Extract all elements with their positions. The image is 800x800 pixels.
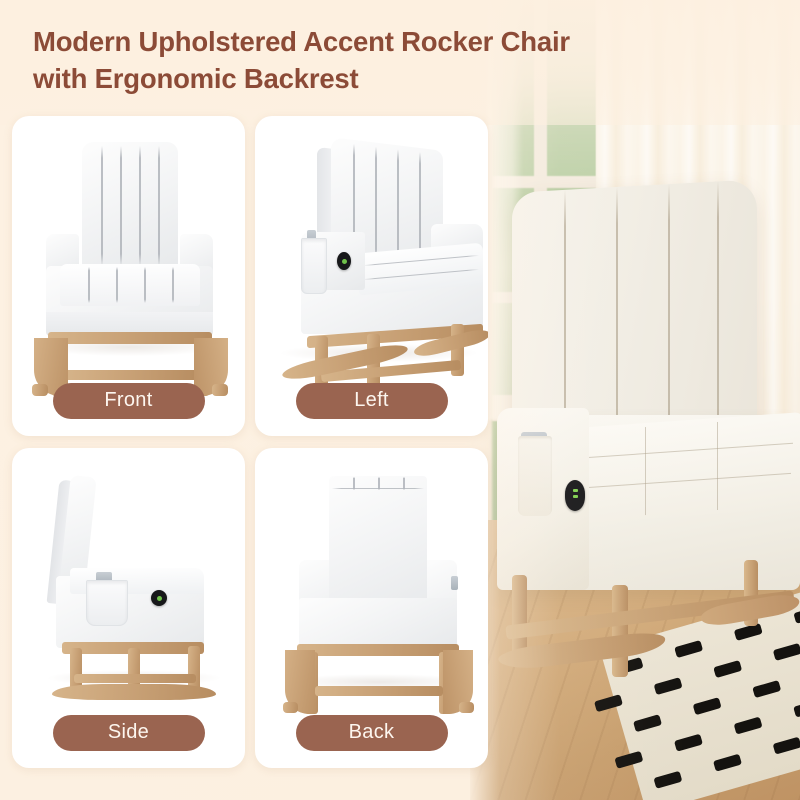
side-usb-charging-port bbox=[151, 590, 167, 606]
back-view-illustration bbox=[255, 448, 488, 706]
front-runner-foot-right bbox=[212, 384, 228, 396]
back-stretcher bbox=[315, 686, 443, 696]
view-card-back[interactable]: Back bbox=[255, 448, 488, 768]
side-storage-pocket bbox=[86, 580, 128, 626]
front-seat-cushion bbox=[60, 264, 200, 306]
photo-leg-front-left bbox=[512, 575, 527, 655]
back-base-rail bbox=[297, 644, 459, 656]
view-card-front[interactable]: Front bbox=[12, 116, 245, 436]
back-runner-foot-left bbox=[283, 702, 298, 713]
view-label-front: Front bbox=[53, 383, 205, 419]
view-label-back: Back bbox=[296, 715, 448, 751]
left-side-pocket bbox=[301, 238, 327, 294]
back-pocket-contents bbox=[451, 576, 458, 590]
side-rocker-runner bbox=[52, 684, 216, 700]
back-runner-foot-right bbox=[459, 702, 474, 713]
view-card-left[interactable]: Left bbox=[255, 116, 488, 436]
photo-leg-front-right bbox=[612, 585, 628, 677]
front-runner-foot-left bbox=[32, 384, 48, 396]
side-stretcher bbox=[74, 674, 196, 683]
left-view-illustration bbox=[255, 116, 488, 374]
product-views-grid: Front bbox=[12, 116, 488, 788]
front-backrest bbox=[82, 142, 178, 270]
infographic-stage: Modern Upholstered Accent Rocker Chair w… bbox=[0, 0, 800, 800]
view-label-left: Left bbox=[296, 383, 448, 419]
photo-chair-seat-cushion bbox=[575, 412, 800, 524]
photo-side-pocket bbox=[518, 436, 552, 516]
left-usb-charging-port bbox=[337, 252, 351, 270]
view-card-side[interactable]: Side bbox=[12, 448, 245, 768]
back-backrest-panel bbox=[329, 476, 427, 616]
back-seat-frame bbox=[299, 598, 457, 648]
front-view-illustration bbox=[12, 116, 245, 374]
front-stretcher bbox=[64, 370, 198, 380]
front-base-top-rail bbox=[48, 332, 212, 344]
photo-usb-charging-port bbox=[565, 480, 585, 511]
view-label-side: Side bbox=[53, 715, 205, 751]
page-title: Modern Upholstered Accent Rocker Chair w… bbox=[33, 24, 733, 97]
side-view-illustration bbox=[12, 448, 245, 706]
